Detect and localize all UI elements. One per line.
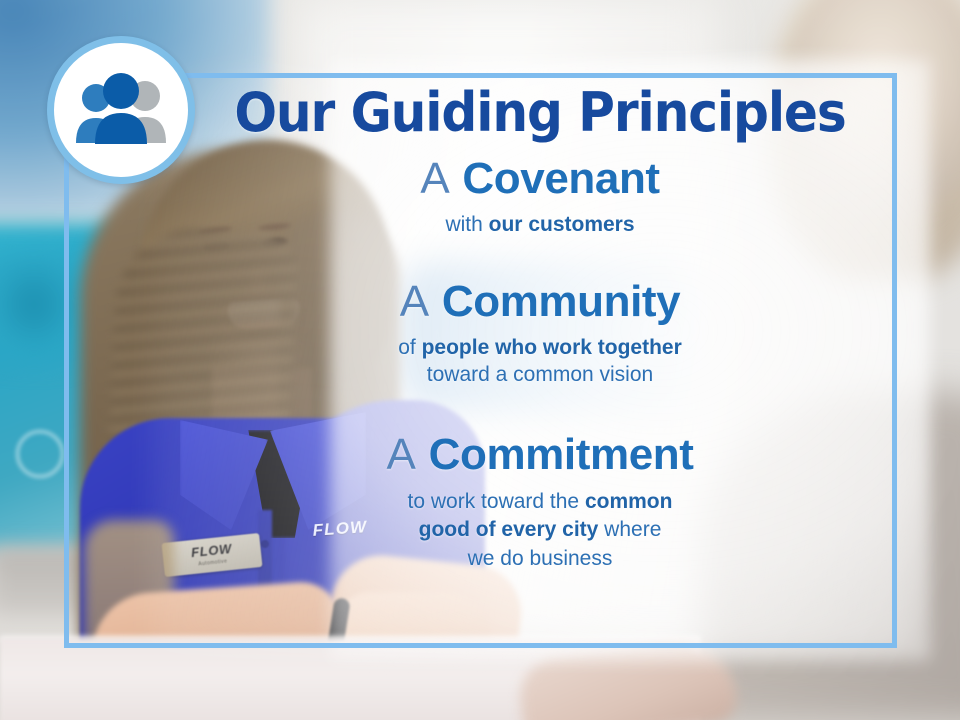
photo-blue-car-blur bbox=[398, 262, 698, 412]
name-badge-brand: FLOW bbox=[190, 542, 232, 559]
photo-employee-button-upper bbox=[261, 540, 269, 548]
name-badge-subtitle: Automotive bbox=[198, 558, 227, 567]
marketing-banner: FLOW FLOW Automotive bbox=[0, 0, 960, 720]
photo-brand-roundel-blur bbox=[16, 430, 64, 478]
group-of-people-icon bbox=[47, 36, 195, 184]
photo-customer-head bbox=[786, 0, 960, 218]
